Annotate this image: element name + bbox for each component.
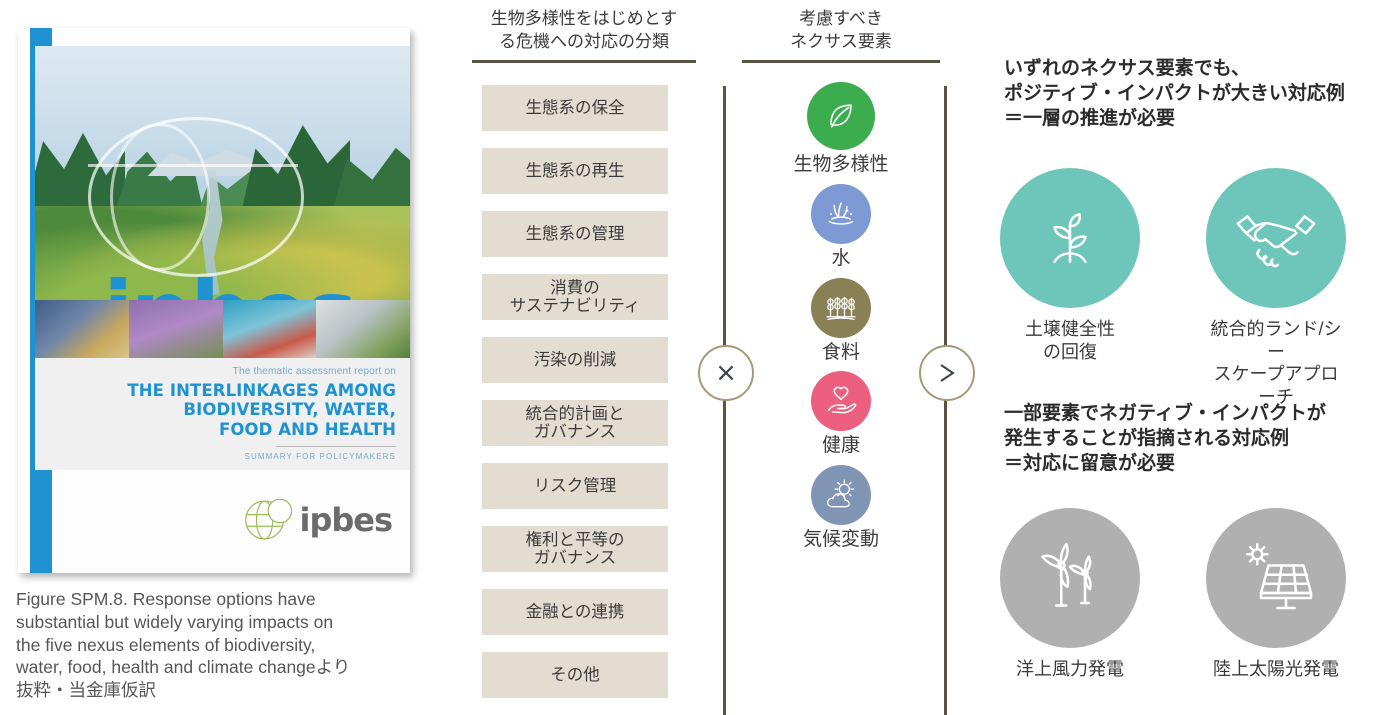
example-label-line-1: 陸上太陽光発電 [1206,658,1346,681]
negative-impact-callout: 一部要素でネガティブ・インパクトが 発生することが指摘される対応例 ＝対応に留意… [1004,401,1400,476]
multiply-operator-icon: × [698,345,754,401]
response-option-label: 生態系の管理 [526,225,625,243]
positive-example-item[interactable]: 統合的ランド/シースケープアプローチ [1206,168,1346,408]
response-option-label: 権利と平等の [526,531,625,549]
positive-examples-row: 土壌健全性の回復統合的ランド/シースケープアプローチ [1000,168,1346,408]
response-option-label: その他 [550,666,600,684]
caption-line-2: substantial but widely varying impacts o… [16,611,446,634]
response-option-label-line-2: サステナビリティ [510,297,641,315]
response-option-box[interactable]: その他 [482,652,668,698]
response-option-box[interactable]: 統合的計画とガバナンス [482,400,668,446]
example-label-line-1: 土壌健全性 [1000,318,1140,341]
positive-example-label: 統合的ランド/シースケープアプローチ [1206,318,1346,408]
cover-landscape-photo: ipbes [35,46,410,342]
response-option-label: 金融との連携 [526,603,625,621]
sun-cloud-icon [811,465,871,525]
response-option-label: 生態系の再生 [526,162,625,180]
cover-subtitle: SUMMARY FOR POLICYMAKERS [35,452,396,461]
cover-title-line-3: FOOD AND HEALTH [35,420,396,439]
strip-photo-people [223,300,317,362]
cover-pretitle: The thematic assessment report on [35,366,396,377]
responses-header-line-2: る危機への対応の分類 [472,31,696,54]
ipbes-globe-icon [243,493,297,547]
globe-overlay-meridian-icon [110,123,210,271]
solar-panel-icon [1206,508,1346,648]
negative-callout-line-2: 発生することが指摘される対応例 [1004,426,1400,451]
handshake-icon [1206,168,1346,308]
sprout-icon [1000,168,1140,308]
negative-example-item[interactable]: 洋上風力発電 [1000,508,1140,681]
negative-callout-line-3: ＝対応に留意が必要 [1004,451,1400,476]
responses-header-line-1: 生物多様性をはじめとす [472,8,696,31]
negative-example-item[interactable]: 陸上太陽光発電 [1206,508,1346,681]
nexus-elements-list: 生物多様性水食料健康気候変動 [742,82,940,559]
nexus-header-line-2: ネクサス要素 [742,31,940,54]
negative-callout-line-1: 一部要素でネガティブ・インパクトが [1004,401,1400,426]
example-label-line-2: の回復 [1000,341,1140,364]
example-label-line-1: 洋上風力発電 [1000,658,1140,681]
positive-callout-line-2: ポジティブ・インパクトが大きい対応例 [1004,81,1400,106]
caption-line-3: the five nexus elements of biodiversity, [16,634,446,657]
response-option-label: 生態系の保全 [526,99,625,117]
nexus-element-label: 生物多様性 [742,154,940,177]
nexus-element-label: 気候変動 [742,529,940,552]
cover-title-line-2: BIODIVERSITY, WATER, [35,400,396,419]
ipbes-logo-text: ipbes [299,501,392,539]
response-option-box[interactable]: リスク管理 [482,463,668,509]
response-option-box[interactable]: 汚染の削減 [482,337,668,383]
water-splash-icon [811,184,871,244]
response-option-box[interactable]: 生態系の保全 [482,85,668,131]
responses-column-header: 生物多様性をはじめとす る危機への対応の分類 [472,8,696,63]
greater-than-operator-icon [919,345,975,401]
heart-in-hand-icon [811,371,871,431]
response-option-box[interactable]: 生態系の管理 [482,211,668,257]
report-cover-card: ipbes The thematic assessment report on … [18,28,410,573]
cover-divider [276,446,396,447]
figure-canvas: ipbes The thematic assessment report on … [0,0,1400,715]
cover-title: THE INTERLINKAGES AMONG BIODIVERSITY, WA… [35,381,396,439]
response-option-label: 汚染の削減 [534,351,617,369]
globe-overlay-equator-icon [88,164,298,167]
responses-header-rule [472,60,696,63]
strip-photo-solar [35,300,129,362]
nexus-header-rule [742,60,940,63]
response-option-label-line-2: ガバナンス [526,423,625,441]
positive-impact-callout: いずれのネクサス要素でも、 ポジティブ・インパクトが大きい対応例 ＝一層の推進が… [1004,56,1400,131]
response-option-label-line-2: ガバナンス [526,549,625,567]
figure-caption: Figure SPM.8. Response options have subs… [16,588,446,702]
positive-callout-line-3: ＝一層の推進が必要 [1004,106,1400,131]
response-option-label: リスク管理 [534,477,617,495]
response-option-box[interactable]: 消費のサステナビリティ [482,274,668,320]
nexus-element[interactable]: 気候変動 [742,465,940,552]
negative-example-label: 陸上太陽光発電 [1206,658,1346,681]
nexus-element-label: 食料 [742,342,940,365]
leaf-icon [807,82,875,150]
response-option-box[interactable]: 金融との連携 [482,589,668,635]
ipbes-logo: ipbes [243,493,392,547]
response-option-box[interactable]: 権利と平等のガバナンス [482,526,668,572]
chevron-right-icon [936,361,958,385]
nexus-element[interactable]: 食料 [742,278,940,365]
strip-photo-farm [316,300,410,362]
caption-line-4: water, food, health and climate changeより [16,656,446,679]
nexus-element[interactable]: 健康 [742,371,940,458]
report-cover: ipbes The thematic assessment report on … [18,28,410,573]
nexus-element[interactable]: 生物多様性 [742,82,940,177]
nexus-column-header: 考慮すべき ネクサス要素 [742,8,940,63]
positive-callout-line-1: いずれのネクサス要素でも、 [1004,56,1400,81]
nexus-header-line-1: 考慮すべき [742,8,940,31]
response-option-label: 統合的計画と [526,405,625,423]
response-options-list: 生態系の保全生態系の再生生態系の管理消費のサステナビリティ汚染の削減統合的計画と… [482,85,668,715]
response-option-box[interactable]: 生態系の再生 [482,148,668,194]
negative-examples-row: 洋上風力発電陸上太陽光発電 [1000,508,1346,681]
wheat-icon [811,278,871,338]
nexus-element[interactable]: 水 [742,184,940,271]
positive-example-label: 土壌健全性の回復 [1000,318,1140,363]
negative-example-label: 洋上風力発電 [1000,658,1140,681]
cover-photo-strip [35,300,410,362]
positive-example-item[interactable]: 土壌健全性の回復 [1000,168,1140,408]
caption-line-5: 抜粋・当金庫仮訳 [16,679,446,702]
caption-line-1: Figure SPM.8. Response options have [16,588,446,611]
wind-turbine-icon [1000,508,1140,648]
nexus-element-label: 水 [742,248,940,271]
example-label-line-1: 統合的ランド/シー [1206,318,1346,363]
strip-photo-flowers [129,300,223,362]
nexus-element-label: 健康 [742,435,940,458]
cover-title-block: The thematic assessment report on THE IN… [35,358,410,470]
response-option-label: 消費の [510,279,641,297]
cover-title-line-1: THE INTERLINKAGES AMONG [35,381,396,400]
